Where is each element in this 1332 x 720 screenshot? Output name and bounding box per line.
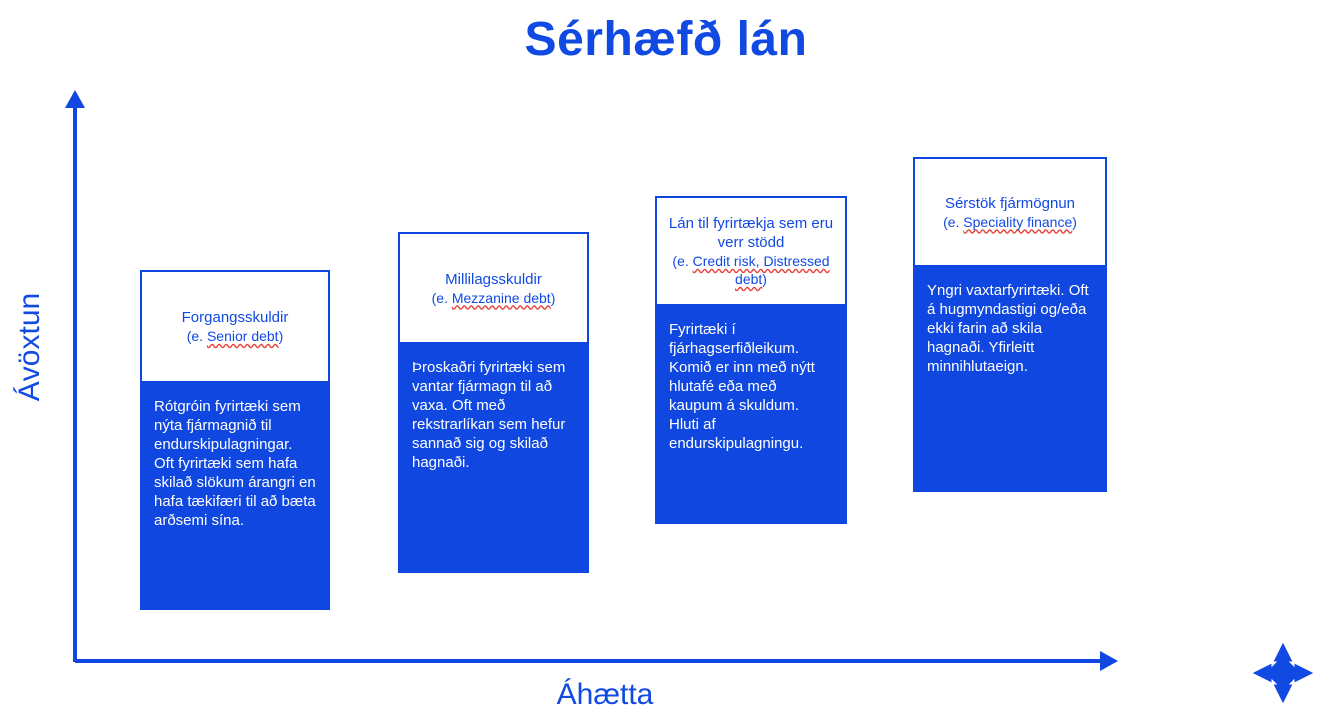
column-title-en: (e. Senior debt) [148, 327, 322, 345]
column-title-is: Forgangsskuldir [148, 308, 322, 327]
column-title-is: Sérstök fjármögnun [921, 194, 1099, 213]
y-axis-label: Ávöxtun [13, 247, 47, 447]
column-title-en: (e. Speciality finance) [921, 213, 1099, 231]
column-body-speciality-finance: Yngri vaxtarfyrirtæki. Oft á hugmyndasti… [913, 267, 1107, 492]
page-title: Sérhæfð lán [0, 8, 1332, 72]
column-body-credit-risk: Fyrirtæki í fjárhagserfiðleikum. Komið e… [655, 306, 847, 524]
category-column-senior-debt: Forgangsskuldir (e. Senior debt) Rótgrói… [140, 270, 330, 610]
column-body-mezzanine-debt: Þroskaðri fyrirtæki sem vantar fjármagn … [398, 344, 589, 573]
eight-point-star-logo [1247, 637, 1319, 709]
x-axis-line [75, 659, 1102, 663]
column-body-senior-debt: Rótgróin fyrirtæki sem nýta fjármagnið t… [140, 383, 330, 610]
slide-canvas: Sérhæfð lán Ávöxtun Áhætta Forgangsskuld… [0, 0, 1332, 720]
column-title-en: (e. Mezzanine debt) [406, 289, 581, 307]
arrow-right-icon [1100, 651, 1118, 671]
column-header-mezzanine-debt: Millilagsskuldir (e. Mezzanine debt) [398, 232, 589, 344]
arrow-up-icon [65, 90, 85, 108]
column-header-credit-risk: Lán til fyrirtækja sem eru verr stödd (e… [655, 196, 847, 306]
column-header-senior-debt: Forgangsskuldir (e. Senior debt) [140, 270, 330, 383]
y-axis-line [73, 104, 77, 662]
column-title-en: (e. Credit risk, Distressed debt) [663, 252, 839, 288]
category-column-speciality-finance: Sérstök fjármögnun (e. Speciality financ… [913, 157, 1107, 492]
category-column-mezzanine-debt: Millilagsskuldir (e. Mezzanine debt) Þro… [398, 232, 589, 573]
x-axis-label: Áhætta [455, 678, 755, 712]
category-column-credit-risk: Lán til fyrirtækja sem eru verr stödd (e… [655, 196, 847, 524]
column-title-is: Lán til fyrirtækja sem eru verr stödd [663, 214, 839, 252]
column-header-speciality-finance: Sérstök fjármögnun (e. Speciality financ… [913, 157, 1107, 267]
column-title-is: Millilagsskuldir [406, 270, 581, 289]
